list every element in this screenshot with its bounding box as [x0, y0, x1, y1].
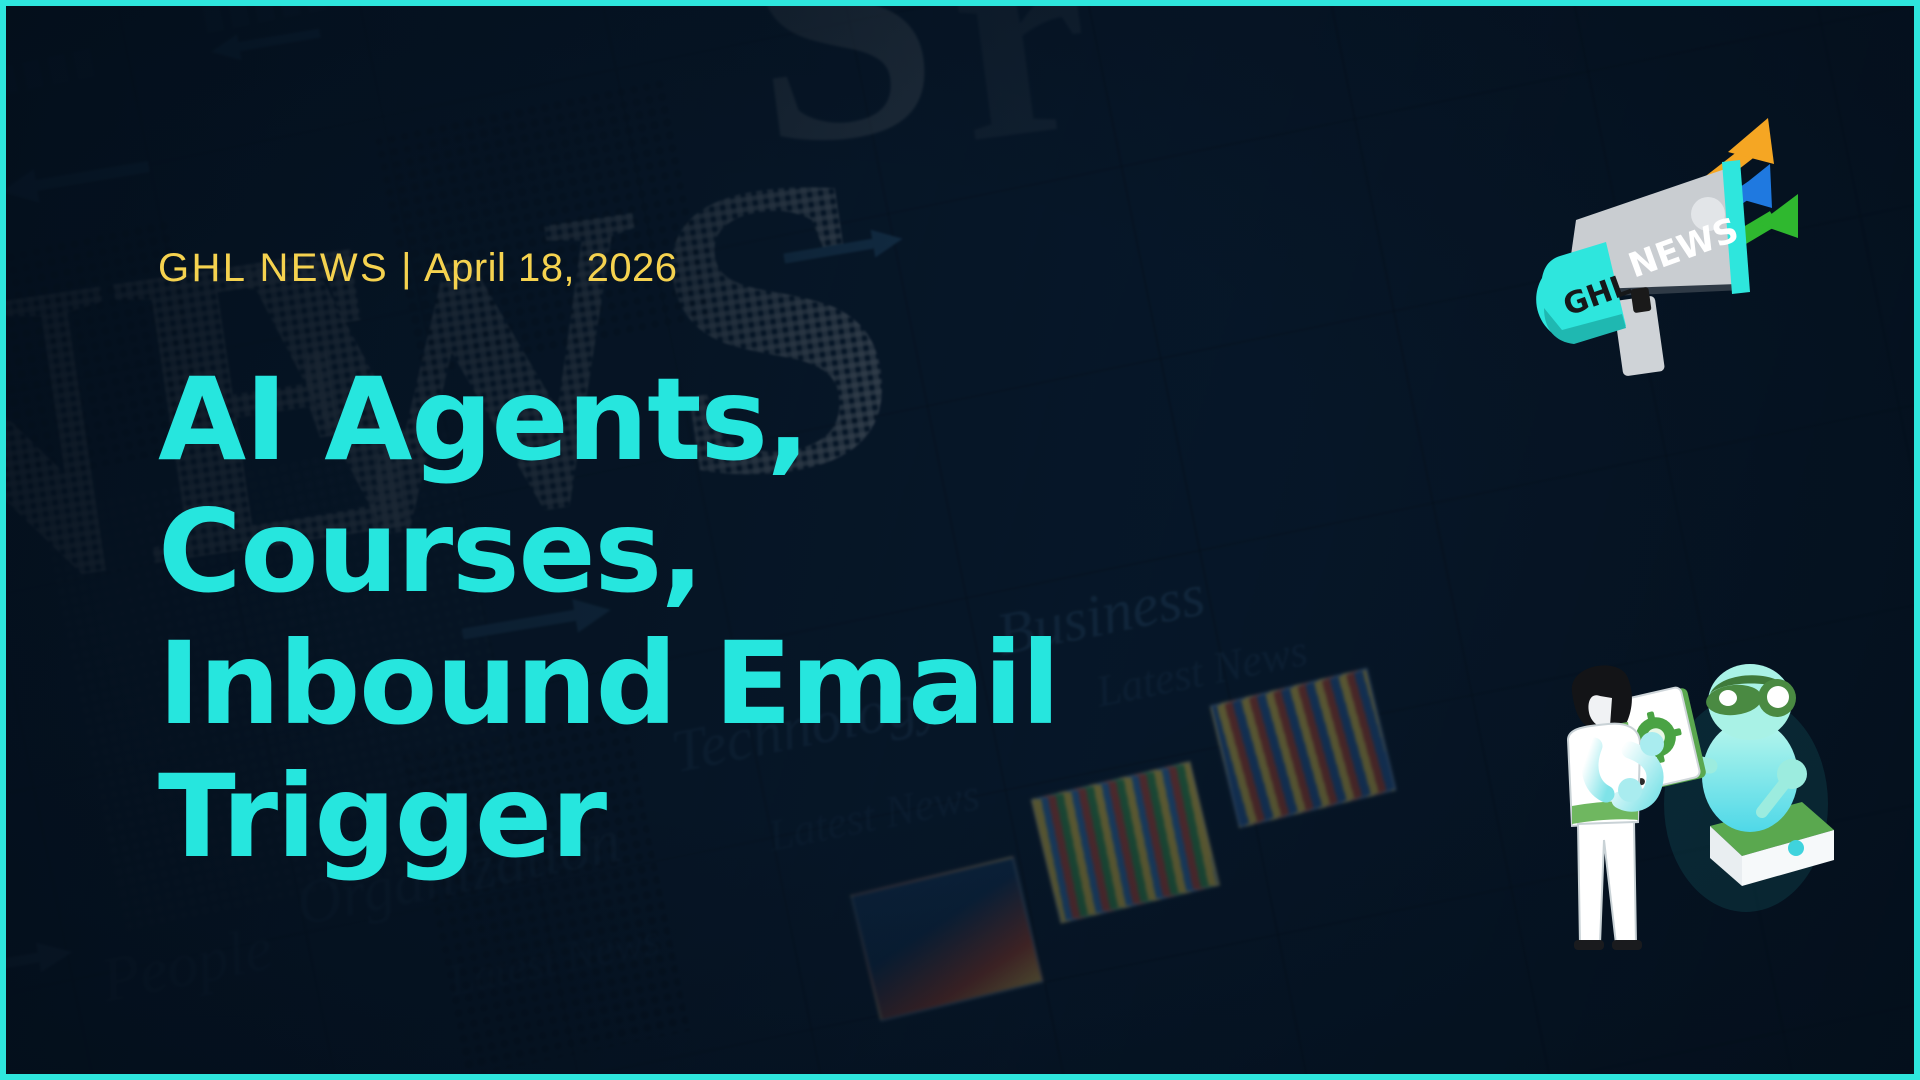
- news-banner: NE WS S r NEWS NEWS S: [0, 0, 1920, 1080]
- headline-line-1: AI Agents, Courses,: [158, 354, 1358, 618]
- headline-block: GHL NEWS|April 18, 2026 AI Agents, Cours…: [158, 6, 1358, 1074]
- byline-separator: |: [389, 246, 424, 290]
- megaphone-illustration: GHL NEWS: [1522, 102, 1822, 392]
- byline-brand: GHL NEWS: [158, 246, 389, 290]
- page-title: AI Agents, Courses, Inbound Email Trigge…: [158, 354, 1358, 883]
- robot-scene-svg: [1534, 654, 1834, 954]
- headline-line-3: Trigger: [158, 751, 1358, 883]
- megaphone-svg: GHL NEWS: [1522, 102, 1822, 392]
- byline: GHL NEWS|April 18, 2026: [158, 246, 678, 291]
- headline-line-2: Inbound Email: [158, 618, 1358, 750]
- byline-date: April 18, 2026: [424, 246, 678, 290]
- robot-illustration: [1534, 654, 1834, 954]
